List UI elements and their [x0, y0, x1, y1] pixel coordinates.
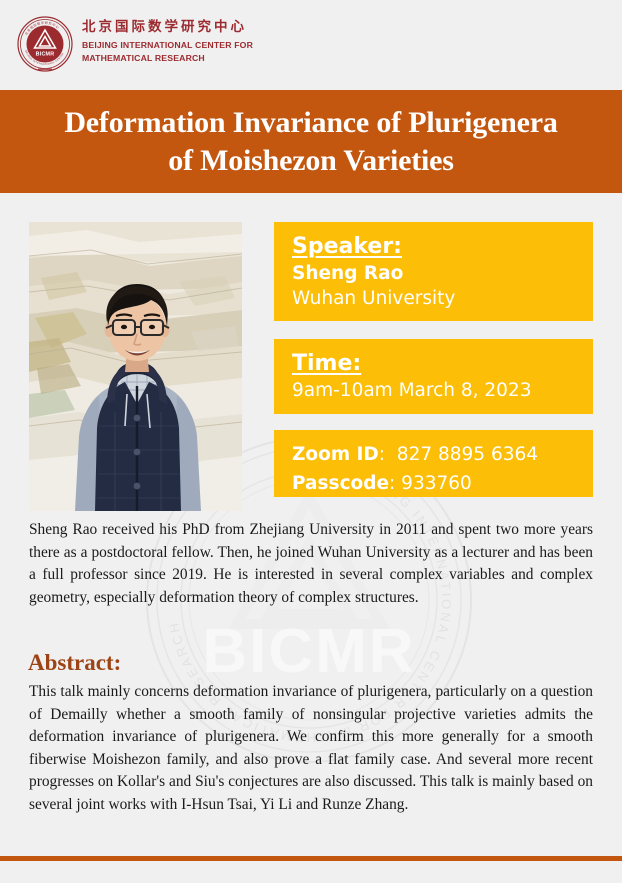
zoom-info-box: Zoom ID: 827 8895 6364 Passcode: 933760 [274, 430, 593, 497]
svg-text:BICMR: BICMR [202, 617, 415, 686]
poster-title-line1: Deformation Invariance of Plurigenera [64, 106, 557, 139]
passcode-label: Passcode [292, 473, 389, 494]
speaker-info-box: Speaker: Sheng Rao Wuhan University [274, 222, 593, 321]
passcode-row: Passcode: 933760 [292, 469, 593, 498]
abstract-heading: Abstract: [28, 650, 121, 676]
bicmr-seal-logo-icon: BICMR 北京国际数学研究中心 BEIJING INTERNATIONAL C… [17, 16, 73, 72]
footer-strip [0, 861, 622, 883]
organization-name: 北京国际数学研究中心 BEIJING INTERNATIONAL CENTER … [82, 19, 253, 64]
time-value: 9am-10am March 8, 2023 [292, 378, 593, 404]
zoom-id-row: Zoom ID: 827 8895 6364 [292, 440, 593, 469]
poster-title: Deformation Invariance of Plurigenera of… [38, 104, 583, 180]
speaker-biography: Sheng Rao received his PhD from Zhejiang… [29, 519, 593, 609]
passcode-value: 933760 [401, 473, 472, 494]
passcode-separator: : [389, 473, 401, 494]
speaker-photo [29, 222, 242, 511]
time-heading: Time: [292, 350, 593, 378]
poster-header: BICMR 北京国际数学研究中心 BEIJING INTERNATIONAL C… [0, 0, 622, 85]
zoom-id-separator: : [379, 444, 397, 465]
org-name-english-line1: BEIJING INTERNATIONAL CENTER FOR [82, 39, 253, 52]
footer-rule [0, 856, 622, 861]
zoom-id-label: Zoom ID [292, 444, 379, 465]
time-info-box: Time: 9am-10am March 8, 2023 [274, 339, 593, 414]
seminar-poster: BEIJING INTERNATIONAL CENTER FOR MATHEMA… [0, 0, 622, 883]
org-name-english-line2: MATHEMATICAL RESEARCH [82, 52, 253, 65]
title-banner: Deformation Invariance of Plurigenera of… [0, 90, 622, 193]
abstract-text: This talk mainly concerns deformation in… [29, 681, 593, 817]
poster-title-line2: of Moishezon Varieties [168, 144, 454, 177]
speaker-name: Sheng Rao [292, 261, 593, 286]
zoom-id-value: 827 8895 6364 [397, 444, 538, 465]
org-name-chinese: 北京国际数学研究中心 [82, 19, 253, 36]
svg-text:BICMR: BICMR [36, 52, 55, 58]
speaker-heading: Speaker: [292, 233, 593, 261]
speaker-affiliation: Wuhan University [292, 286, 593, 312]
